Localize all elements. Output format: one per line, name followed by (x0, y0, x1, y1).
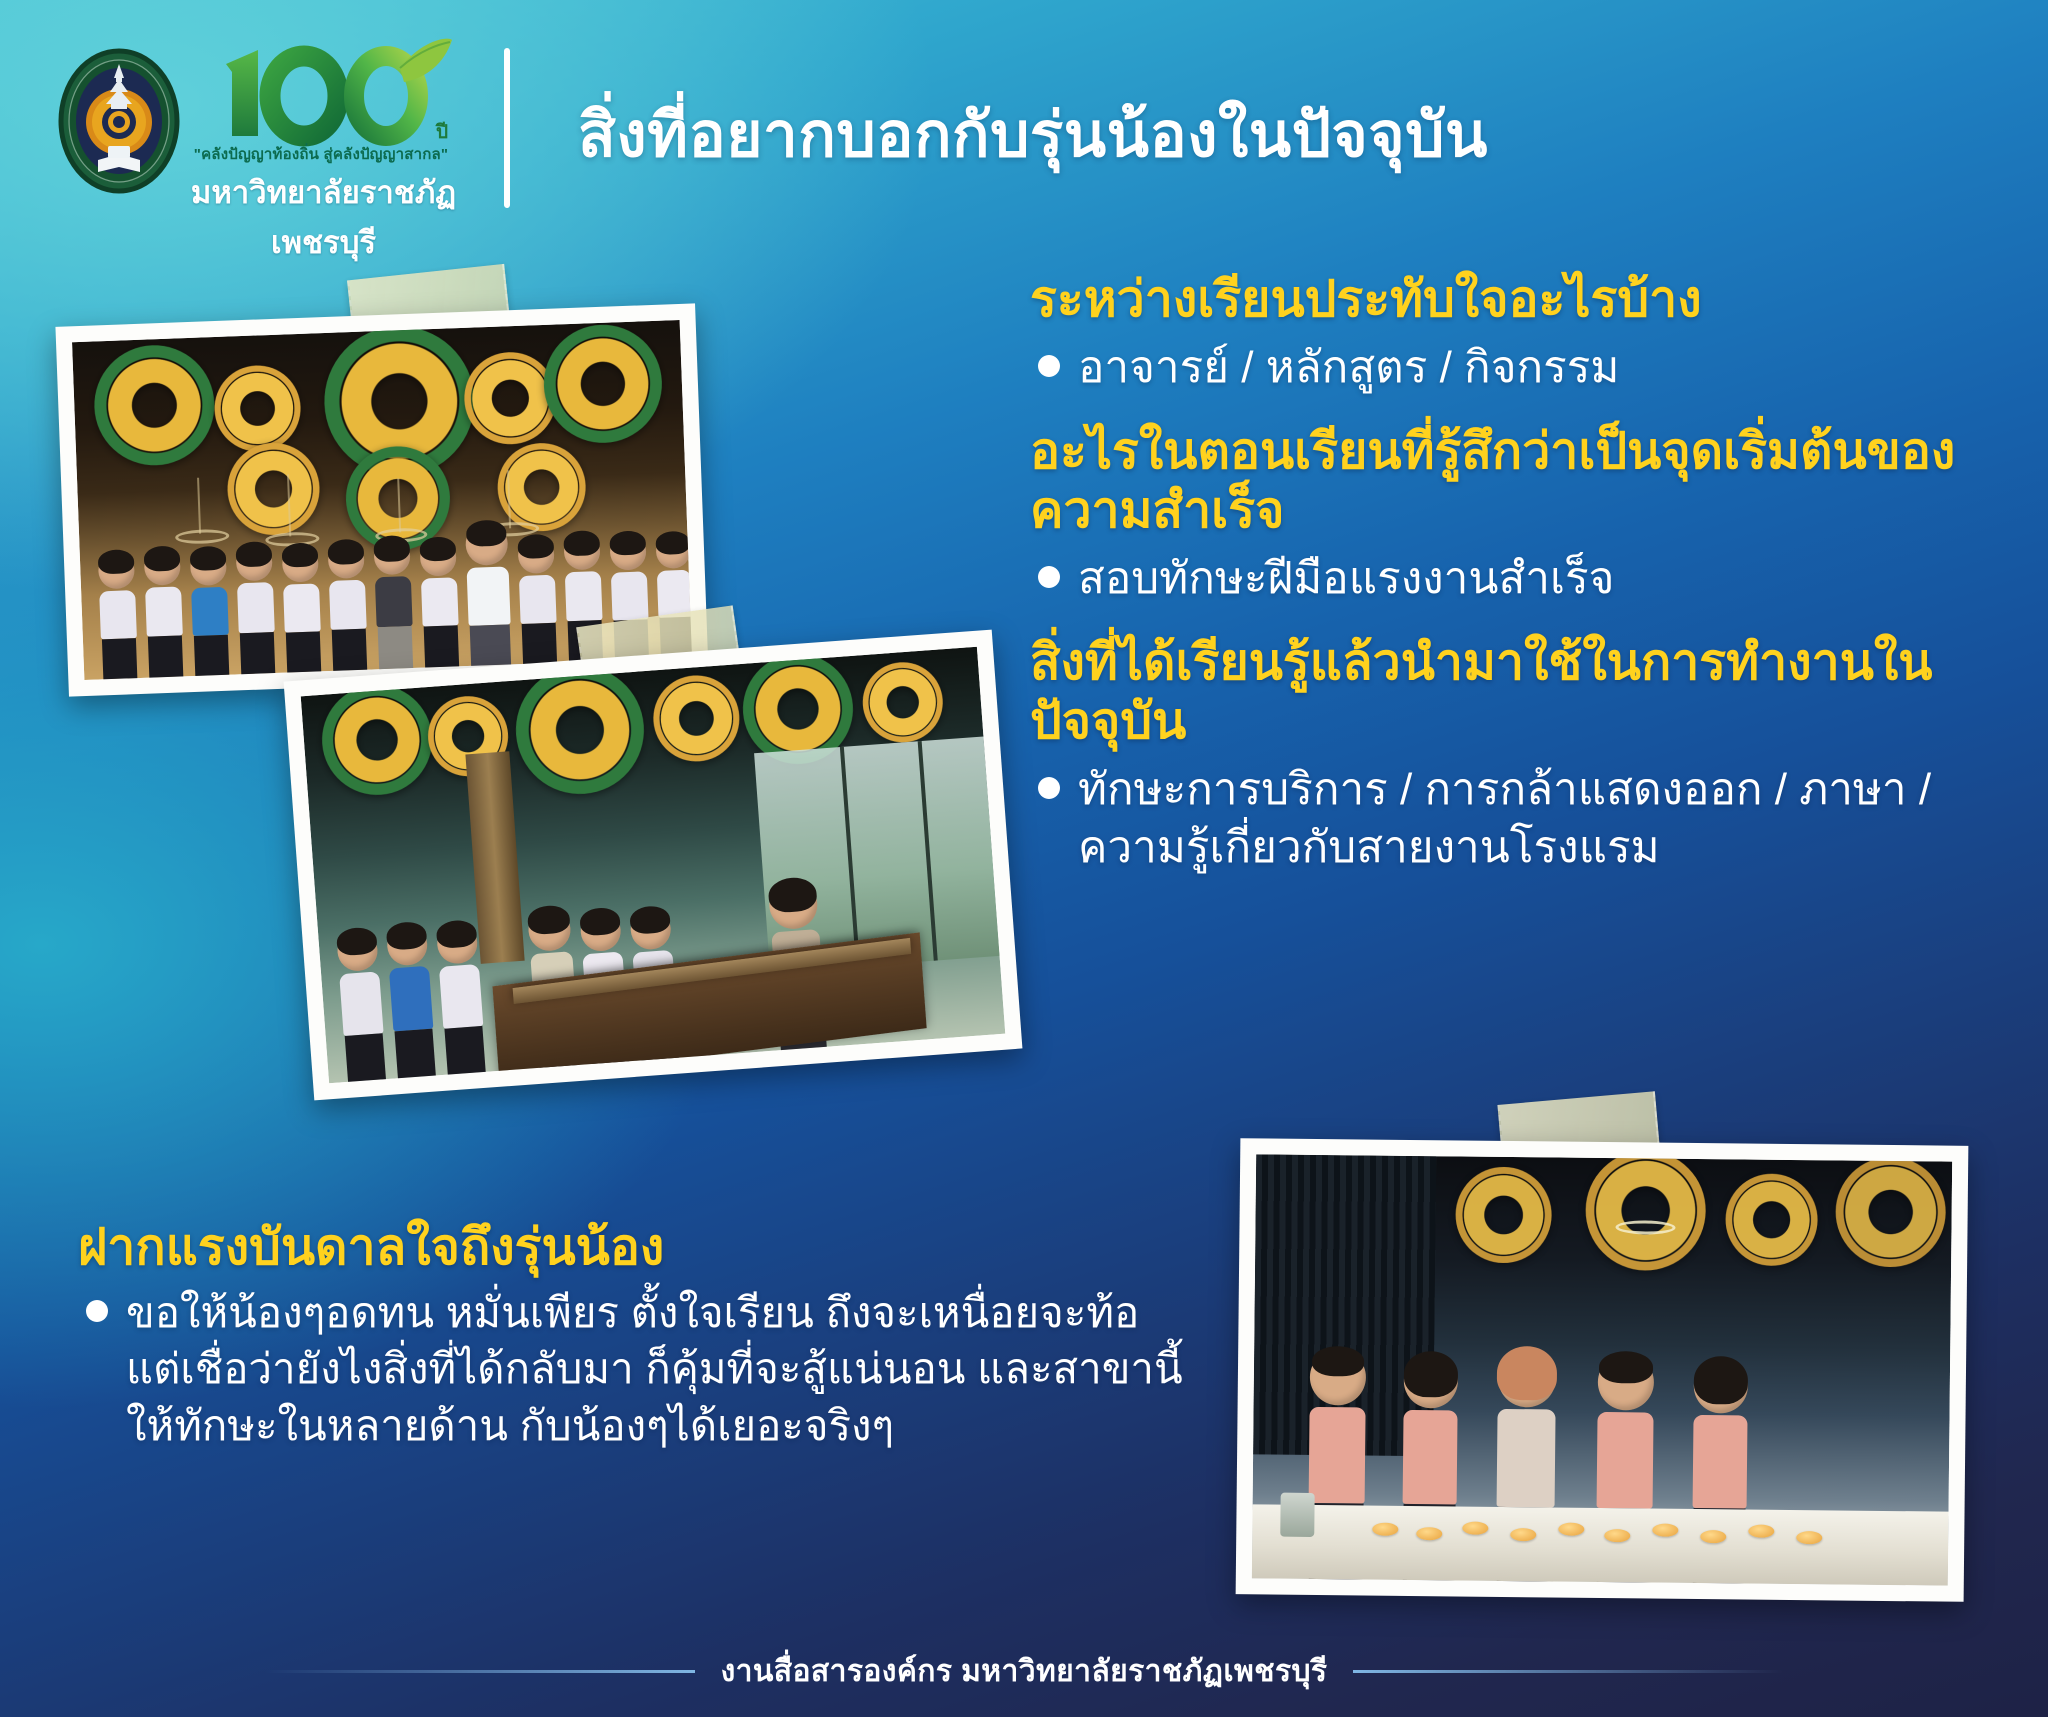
bullet-item: อาจารย์ / หลักสูตร / กิจกรรม (1030, 339, 2020, 396)
section-heading: อะไรในตอนเรียนที่รู้สึกว่าเป็นจุดเริ่มต้… (1030, 422, 2020, 540)
bullet-text: ทักษะการบริการ / การกล้าแสดงออก / ภาษา /… (1078, 761, 2020, 875)
poster-footer: งานสื่อสารองค์กร มหาวิทยาลัยราชภัฏเพชรบุ… (0, 1625, 2048, 1717)
bullet-item: สอบทักษะฝีมือแรงงานสำเร็จ (1030, 550, 2020, 607)
bullet-item: ขอให้น้องๆอดทน หมั่นเพียร ตั้งใจเรียน ถึ… (78, 1285, 1198, 1454)
bullet-text: อาจารย์ / หลักสูตร / กิจกรรม (1078, 339, 2020, 396)
university-name-logo: มหาวิทยาลัยราชภัฏเพชรบุรี (186, 167, 461, 267)
bullet-dot-icon (86, 1300, 108, 1322)
bullet-dot-icon (1038, 777, 1060, 799)
anniversary-100-icon: ปี (186, 34, 456, 152)
section-heading: สิ่งที่ได้เรียนรู้แล้วนำมาใช้ในการทำงานใ… (1030, 633, 2020, 751)
infographic-poster: ปี "คลังปัญญาท้องถิ่น สู่คลังปัญญาสากล" … (0, 0, 2048, 1717)
footer-rule-right (1353, 1670, 1783, 1673)
bullet-dot-icon (1038, 566, 1060, 588)
footer-rule-left (265, 1670, 695, 1673)
section-turning-point: อะไรในตอนเรียนที่รู้สึกว่าเป็นจุดเริ่มต้… (1030, 422, 2020, 607)
inspiration-heading: ฝากแรงบันดาลใจถึงรุ่นน้อง (78, 1218, 1198, 1277)
photo-reception-counter (284, 630, 1023, 1101)
section-applied-skills: สิ่งที่ได้เรียนรู้แล้วนำมาใช้ในการทำงานใ… (1030, 633, 2020, 875)
anniversary-mark: ปี "คลังปัญญาท้องถิ่น สู่คลังปัญญาสากล" … (186, 34, 476, 267)
poster-header: ปี "คลังปัญญาท้องถิ่น สู่คลังปัญญาสากล" … (0, 0, 2048, 250)
bullet-item: ทักษะการบริการ / การกล้าแสดงออก / ภาษา /… (1030, 761, 2020, 875)
inspiration-text: ขอให้น้องๆอดทน หมั่นเพียร ตั้งใจเรียน ถึ… (126, 1285, 1198, 1454)
anniversary-slogan: "คลังปัญญาท้องถิ่น สู่คลังปัญญาสากล" (186, 142, 456, 166)
bullet-dot-icon (1038, 355, 1060, 377)
section-heading: ระหว่างเรียนประทับใจอะไรบ้าง (1030, 270, 2020, 329)
header-divider (504, 48, 510, 208)
bullet-text: สอบทักษะฝีมือแรงงานสำเร็จ (1078, 550, 2020, 607)
university-seal-icon (58, 48, 180, 194)
footer-credit: งานสื่อสารองค์กร มหาวิทยาลัยราชภัฏเพชรบุ… (721, 1648, 1328, 1695)
university-logo-block: ปี "คลังปัญญาท้องถิ่น สู่คลังปัญญาสากล" … (58, 34, 478, 219)
section-impressions: ระหว่างเรียนประทับใจอะไรบ้าง อาจารย์ / ห… (1030, 270, 2020, 396)
page-title: สิ่งที่อยากบอกกับรุ่นน้องในปัจจุบัน (578, 86, 1488, 184)
section-inspiration: ฝากแรงบันดาลใจถึงรุ่นน้อง ขอให้น้องๆอดทน… (78, 1218, 1198, 1454)
svg-text:ปี: ปี (435, 121, 448, 143)
photo-banquet-group (1236, 1138, 1969, 1602)
questions-column: ระหว่างเรียนประทับใจอะไรบ้าง อาจารย์ / ห… (1030, 270, 2020, 902)
